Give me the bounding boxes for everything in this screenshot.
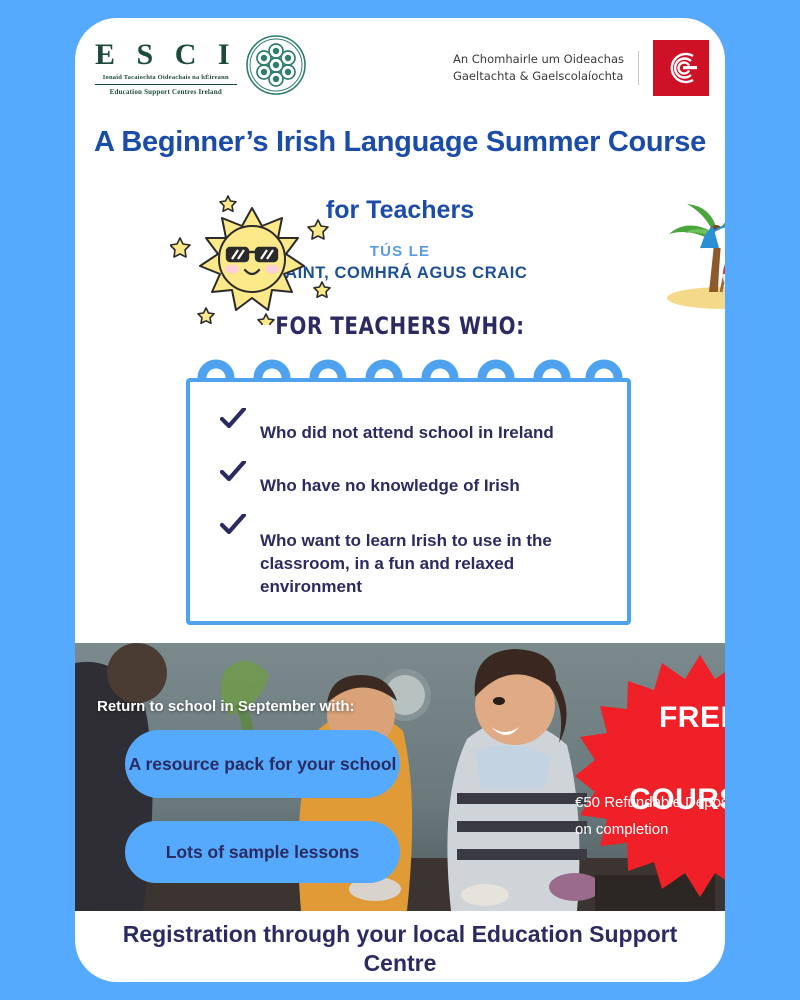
benefit-pill-label: A resource pack for your school [129,753,397,776]
list-item: Who have no knowledge of Irish [220,465,605,498]
esci-irish-subtitle: Ionaid Tacaíochta Oideachais na hÉireann [95,74,237,85]
badge-deposit-label: €50 Refundable Deposit [575,794,725,811]
cogg-red-square-logo-icon [653,40,709,96]
footer: Registration through your local Educatio… [75,916,725,982]
free-course-badge: FREE COURSE! €50 Refundable Deposit on c… [575,651,725,901]
esci-logo: E S C I Ionaid Tacaíochta Oideachais na … [95,34,307,101]
page-title: A Beginner’s Irish Language Summer Cours… [75,126,725,159]
badge-free-label: FREE [659,701,725,735]
poster-root: E S C I Ionaid Tacaíochta Oideachais na … [0,0,800,1000]
list-item: Who did not attend school in Ireland [220,412,605,445]
poster-card: E S C I Ionaid Tacaíochta Oideachais na … [75,18,725,982]
esci-english-subtitle: Education Support Centres Ireland [95,88,237,96]
checklist-item-label: Who have no knowledge of Irish [260,465,520,498]
checklist: Who did not attend school in Ireland Who… [220,412,605,599]
registration-text: Registration through your local Educatio… [75,920,725,979]
photo-section: Return to school in September with: A re… [75,643,725,911]
benefit-pill-resource-pack: A resource pack for your school [125,730,400,798]
poster-header: E S C I Ionaid Tacaíochta Oideachais na … [75,18,725,113]
check-icon [220,408,246,435]
cogg-logo: An Chomhairle um Oideachas Gaeltachta & … [453,40,709,96]
badge-content: FREE COURSE! [575,651,725,901]
return-to-school-label: Return to school in September with: [97,698,355,715]
cogg-line-1: An Chomhairle um Oideachas [453,51,624,68]
beach-scene-icon [653,204,725,314]
cogg-logo-text: An Chomhairle um Oideachas Gaeltachta & … [453,51,639,84]
checklist-item-label: Who did not attend school in Ireland [260,412,554,445]
benefit-pill-sample-lessons: Lots of sample lessons [125,821,400,883]
check-icon [220,461,246,488]
checklist-notepad: Who did not attend school in Ireland Who… [186,378,631,625]
badge-condition-label: on completion [575,821,725,838]
sun-with-sunglasses-icon [170,190,335,330]
check-icon [220,514,246,541]
esci-logo-text: E S C I Ionaid Tacaíochta Oideachais na … [95,39,237,97]
celtic-spiral-emblem-icon [245,34,307,101]
list-item: Who want to learn Irish to use in the cl… [220,518,605,599]
esci-wordmark: E S C I [95,39,237,71]
checklist-item-label: Who want to learn Irish to use in the cl… [260,518,605,599]
benefit-pill-label: Lots of sample lessons [166,841,360,864]
cogg-line-2: Gaeltachta & Gaelscolaíochta [453,68,624,85]
